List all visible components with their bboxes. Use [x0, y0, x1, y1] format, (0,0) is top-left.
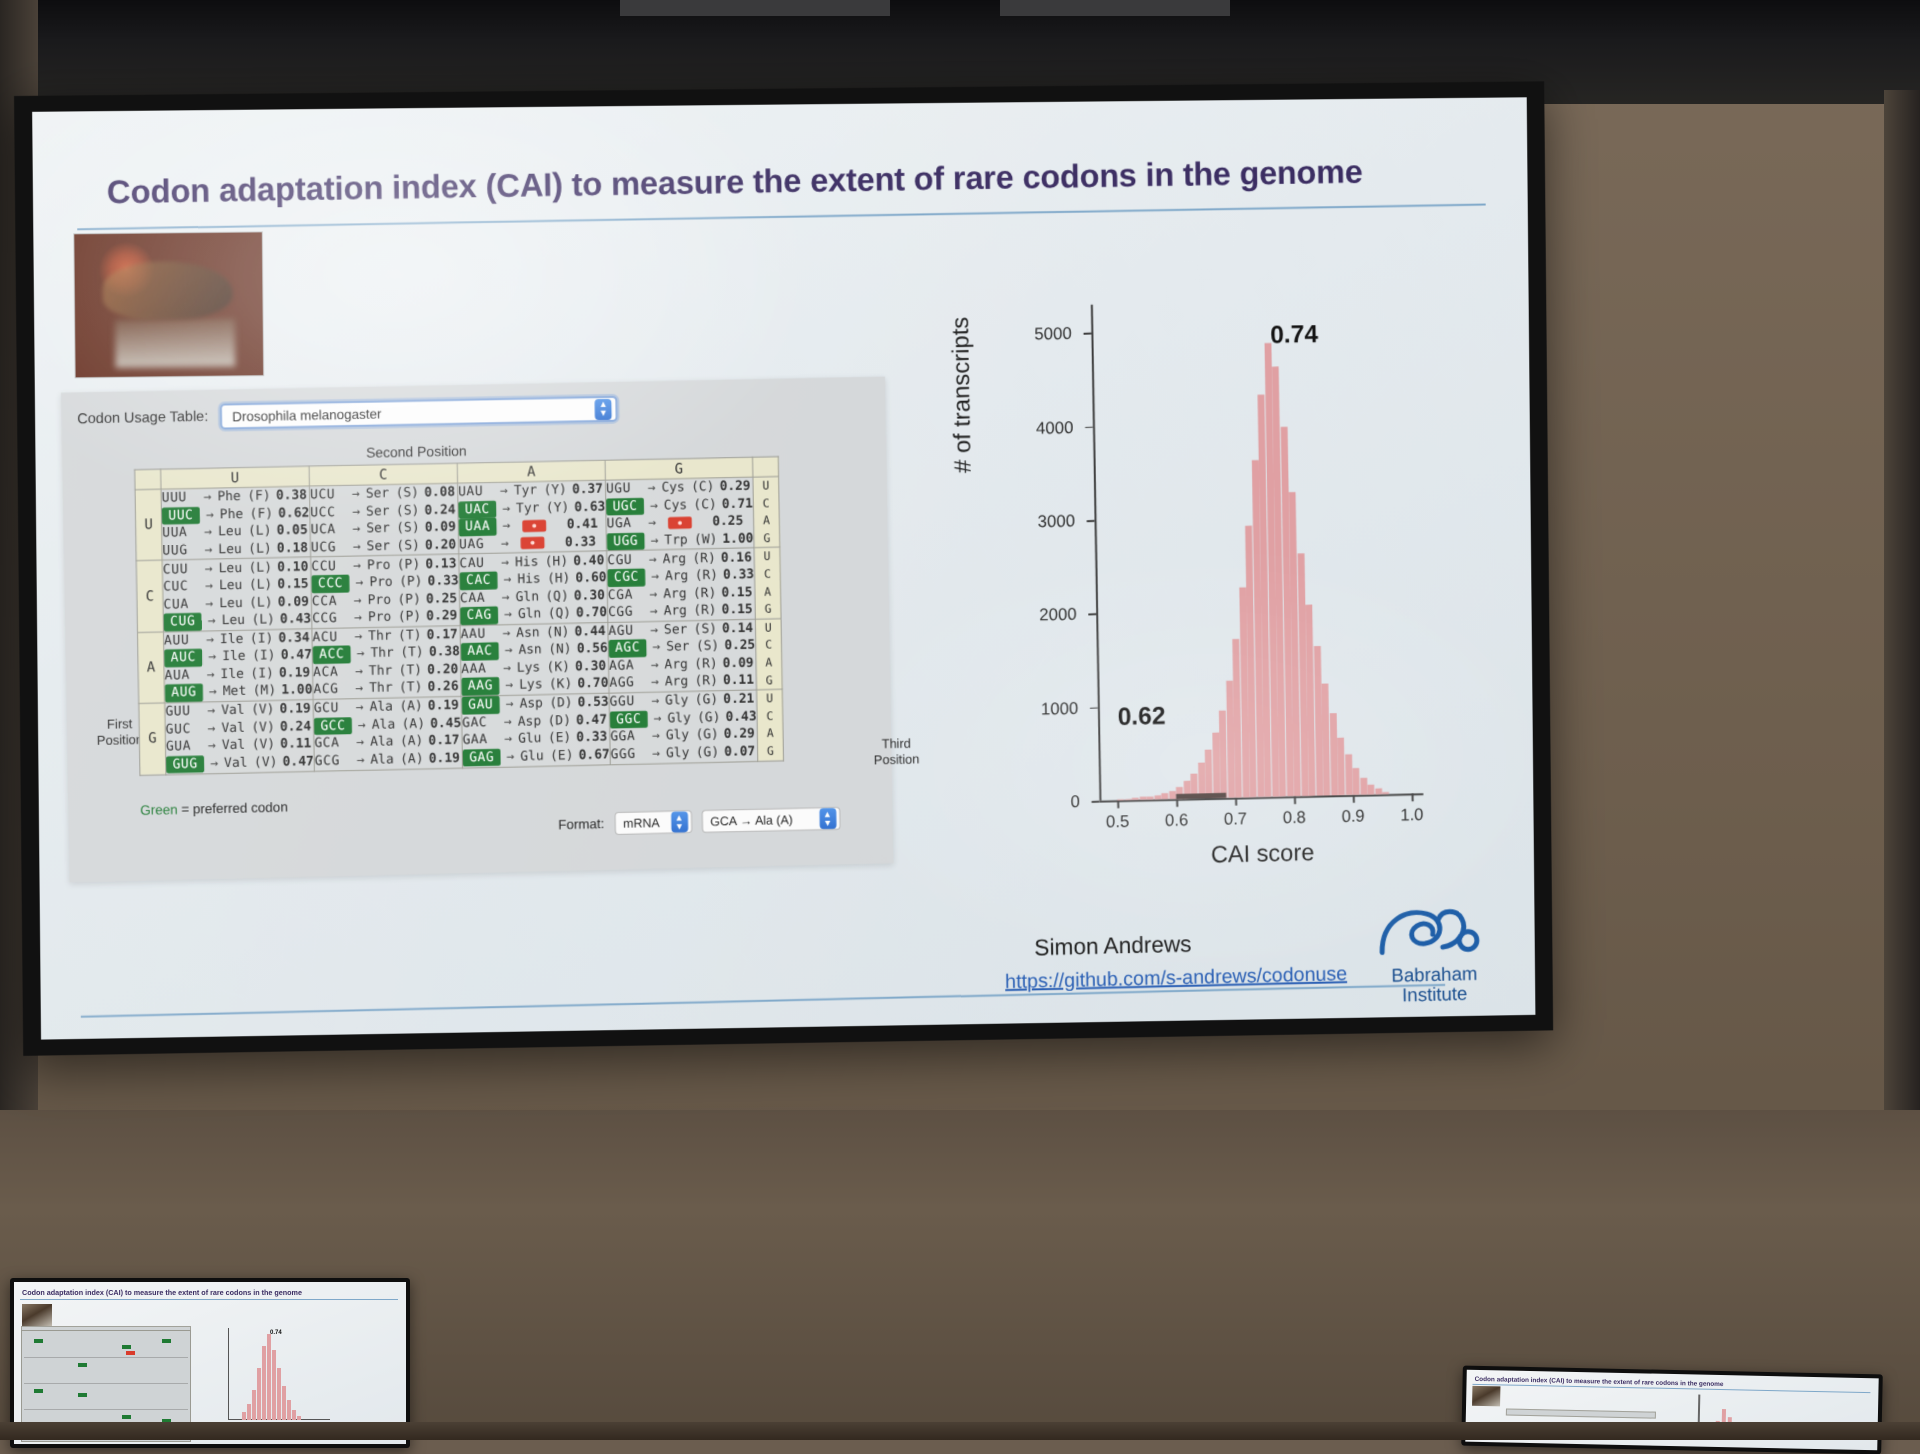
arrow-icon: → [204, 755, 224, 773]
codon-entry[interactable]: UAG→0.33 [459, 533, 606, 553]
stop-codon-icon [522, 520, 546, 532]
amino-acid-name: Ser [366, 503, 396, 521]
codon-triplet: UCG [311, 538, 347, 556]
amino-acid-name: Pro [367, 556, 397, 574]
codon-entry[interactable]: GCG→Ala(A)0.19 [315, 750, 462, 771]
codon-triplet: GCG [315, 752, 351, 770]
author-name: Simon Andrews [1034, 931, 1192, 962]
codon-entry[interactable]: CCG→Pro(P)0.29 [312, 607, 459, 628]
codon-frequency: 0.70 [573, 604, 607, 622]
y-tick-label: 5000 [1034, 324, 1072, 345]
amino-acid-letter: (L) [249, 594, 275, 612]
amino-acid-name: Leu [219, 559, 249, 577]
codon-frequency: 0.10 [274, 558, 308, 576]
codon-triplet: GGU [610, 693, 646, 711]
codon-cell-C-C: CCU→Pro(P)0.13CCC→Pro(P)0.33CCA→Pro(P)0.… [311, 554, 460, 628]
x-tick [1176, 799, 1178, 807]
codon-entry[interactable]: AGG→Arg(R)0.11 [609, 672, 756, 693]
amino-acid-letter: (L) [251, 611, 277, 629]
codon-cell-A-U: AUU→Ile(I)0.34AUC→Ile(I)0.47AUA→Ile(I)0.… [163, 629, 313, 703]
codon-triplet: UUC [162, 507, 200, 525]
codon-triplet: GUA [166, 738, 202, 756]
format-label: Format: [558, 816, 604, 832]
arrow-icon: → [644, 622, 664, 640]
logo-line-2: Institute [1402, 984, 1467, 1006]
histogram-bar [1382, 792, 1389, 794]
codon-entry[interactable]: CGG→Arg(R)0.15 [608, 601, 755, 622]
codon-frequency: 0.19 [426, 750, 460, 768]
amino-acid-letter: (G) [695, 726, 721, 744]
x-tick [1412, 794, 1414, 802]
arrow-icon: → [200, 506, 220, 524]
arrow-icon: → [496, 625, 516, 643]
amino-acid-name: Glu [518, 730, 548, 748]
amino-acid-letter: (M) [253, 682, 279, 700]
codon-frequency: 0.25 [423, 590, 457, 608]
amino-acid-letter: (K) [546, 659, 572, 677]
amino-acid-letter: (H) [547, 570, 573, 588]
amino-acid-name: Glu [520, 748, 550, 766]
codon-triplet: CCG [312, 610, 348, 628]
histogram-bar [1375, 789, 1382, 795]
amino-acid-name: Val [222, 737, 252, 755]
codon-frequency: 0.29 [423, 607, 457, 625]
codon-frequency: 0.41 [564, 516, 598, 534]
x-tick-label: 1.0 [1400, 805, 1423, 825]
amino-acid-letter: (S) [396, 537, 422, 555]
codon-frequency: 0.21 [720, 691, 754, 709]
codon-frequency: 0.29 [721, 726, 755, 744]
codon-entry[interactable]: AAG→Lys(K)0.70 [461, 675, 608, 696]
histogram-bar [1169, 791, 1176, 800]
amino-acid-name: Lys [519, 676, 549, 694]
amino-acid-letter: (N) [548, 641, 574, 659]
codon-triplet: AGG [609, 674, 645, 692]
codon-cell-G-G: GGU→Gly(G)0.21GGC→Gly(G)0.43GGA→Gly(G)0.… [609, 690, 758, 764]
codon-triplet: UAG [459, 535, 495, 553]
codon-triplet: AAU [461, 625, 497, 643]
codon-entry[interactable]: CUG→Leu(L)0.43 [164, 610, 312, 631]
peak-annotation: 0.74 [1270, 320, 1318, 350]
codon-frequency: 0.15 [719, 584, 753, 602]
amino-acid-name: Leu [221, 612, 251, 630]
projection-screen: Codon adaptation index (CAI) to measure … [14, 81, 1553, 1056]
ceiling-panel [1000, 0, 1230, 16]
arrow-icon: → [495, 554, 515, 572]
arrow-icon: → [348, 592, 368, 610]
arrow-icon: → [497, 660, 517, 678]
example-codon-select[interactable]: GCA → Ala (A) ▲▼ [701, 807, 840, 833]
codon-cell-G-A: GAU→Asp(D)0.53GAC→Asp(D)0.47GAA→Glu(E)0.… [461, 693, 610, 767]
codon-entry[interactable]: GUG→Val(V)0.47 [166, 753, 314, 774]
chevron-updown-icon-example[interactable]: ▲▼ [819, 808, 836, 829]
codon-triplet: CCC [311, 575, 349, 593]
codon-usage-table-select[interactable]: Drosophila melanogaster ▲▼ [220, 396, 618, 430]
amino-acid-name: His [515, 553, 545, 571]
amino-acid-letter: (I) [250, 665, 276, 683]
amino-acid-letter: (E) [548, 730, 574, 748]
codon-frequency: 0.62 [275, 504, 309, 522]
x-tick [1117, 800, 1119, 808]
codon-frequency: 0.47 [573, 711, 607, 729]
arrow-icon: → [346, 521, 366, 539]
codon-triplet: GGG [610, 745, 646, 763]
arrow-icon: → [349, 699, 369, 717]
format-select[interactable]: mRNA ▲▼ [614, 810, 692, 835]
arrow-icon: → [198, 524, 218, 542]
codon-frequency: 0.14 [719, 620, 753, 638]
x-axis-title: CAI score [1100, 837, 1424, 872]
amino-acid-letter: (L) [249, 576, 275, 594]
amino-acid-name: His [517, 571, 547, 589]
codon-frequency: 0.43 [723, 708, 757, 726]
codon-triplet: UGU [606, 480, 642, 498]
babraham-logo-icon [1373, 900, 1493, 960]
drosophila-photo [73, 231, 264, 378]
y-tick: 2000 [1088, 614, 1096, 616]
arrow-icon: → [199, 595, 219, 613]
codon-frequency: 0.33 [425, 572, 459, 590]
codon-frequency: 0.09 [275, 593, 309, 611]
y-tick: 4000 [1085, 426, 1093, 428]
codon-frequency: 0.08 [421, 484, 455, 502]
codon-frequency: 0.25 [722, 637, 756, 655]
histogram-bar [1345, 755, 1353, 795]
amino-acid-letter: (V) [251, 701, 277, 719]
arrow-icon: → [350, 752, 370, 770]
codon-entry[interactable]: AUG→Met(M)1.00 [165, 682, 313, 703]
amino-acid-letter: (R) [693, 602, 719, 620]
arrow-icon: → [643, 585, 663, 603]
y-tick: 3000 [1087, 520, 1095, 522]
amino-acid-name: Ser [666, 638, 696, 656]
codon-cell-U-U: UUU→Phe(F)0.38UUC→Phe(F)0.62UUA→Leu(L)0.… [161, 486, 311, 560]
codon-frequency: 0.33 [562, 533, 596, 551]
arrow-icon: → [642, 480, 662, 498]
arrow-icon: → [645, 568, 665, 586]
arrow-icon: → [643, 551, 663, 569]
amino-acid-name: Ser [367, 537, 397, 555]
codon-triplet: AAA [461, 660, 497, 678]
amino-acid-letter: (A) [400, 750, 426, 768]
codon-triplet: UAA [459, 518, 497, 536]
amino-acid-name: Gly [666, 727, 696, 745]
arrow-icon: → [646, 745, 666, 763]
arrow-icon: → [346, 486, 366, 504]
arrow-icon: → [498, 731, 518, 749]
x-tick [1353, 795, 1355, 803]
amino-acid-name: Asn [516, 624, 546, 642]
codon-entry[interactable]: ACG→Thr(T)0.26 [313, 678, 460, 699]
codon-entry[interactable]: UGG→Trp(W)1.00 [607, 530, 754, 550]
codon-triplet: AAG [461, 678, 499, 696]
amino-acid-name: Ile [222, 648, 252, 666]
codon-triplet: UCA [311, 521, 347, 539]
arrow-icon: → [646, 639, 666, 657]
codon-usage-table-row: Codon Usage Table: Drosophila melanogast… [77, 396, 618, 433]
amino-acid-letter: (T) [399, 662, 425, 680]
arrow-icon: → [497, 571, 517, 589]
codon-entry[interactable]: CAG→Gln(Q)0.70 [460, 604, 607, 625]
codon-cell-U-G: UGU→Cys(C)0.29UGC→Cys(C)0.71UGA→0.25UGG→… [605, 477, 754, 551]
amino-acid-letter: (T) [399, 679, 425, 697]
codon-table-row-U: UUUU→Phe(F)0.38UUC→Phe(F)0.62UUA→Leu(L)0… [135, 477, 780, 561]
amino-acid-letter: (S) [396, 502, 422, 520]
amino-acid-name: Thr [368, 627, 398, 645]
codon-triplet: GCU [314, 700, 350, 718]
arrow-icon: → [199, 560, 219, 578]
amino-acid-name: Leu [218, 523, 248, 541]
amino-acid-letter: (P) [397, 591, 423, 609]
codon-frequency: 0.37 [569, 481, 603, 499]
codon-triplet: AGU [608, 622, 644, 640]
arrow-icon: → [346, 503, 366, 521]
second-position-label: Second Position [366, 443, 467, 461]
codon-triplet: GAA [462, 731, 498, 749]
codon-entry[interactable]: UCG→Ser(S)0.20 [311, 536, 458, 557]
codon-frequency: 0.05 [274, 522, 308, 540]
histogram-bar [1352, 768, 1359, 795]
y-axis-title: # of transcripts [947, 317, 977, 474]
x-tick [1294, 796, 1296, 804]
amino-acid-letter: (F) [247, 488, 273, 506]
amino-acid-name: Asp [518, 713, 548, 731]
low-annotation: 0.62 [1117, 702, 1165, 732]
histogram-bar [1367, 784, 1374, 794]
amino-acid-letter: (V) [251, 719, 277, 737]
amino-acid-name: Arg [663, 585, 693, 603]
amino-acid-letter: (V) [254, 754, 280, 772]
amino-acid-letter: (L) [248, 540, 274, 558]
arrow-icon: → [495, 535, 515, 553]
amino-acid-letter: (W) [694, 531, 720, 549]
amino-acid-letter: (P) [398, 608, 424, 626]
arrow-icon: → [348, 609, 368, 627]
codon-triplet: CGU [607, 551, 643, 569]
codon-triplet: AAC [461, 643, 499, 661]
y-tick-label: 3000 [1038, 511, 1076, 532]
codon-triplet: AUC [164, 649, 202, 667]
amino-acid-name: Met [223, 683, 253, 701]
codon-frequency: 0.13 [423, 555, 457, 573]
amino-acid-letter: (L) [248, 522, 274, 540]
histogram-bar [1360, 778, 1367, 795]
codon-triplet: AGA [609, 657, 645, 675]
y-tick-label: 1000 [1041, 699, 1079, 720]
chevron-updown-icon[interactable]: ▲▼ [595, 398, 612, 419]
logo-text: Babraham Institute [1361, 964, 1509, 1007]
stop-codon-icon [521, 537, 545, 549]
codon-frequency: 0.15 [719, 601, 753, 619]
codon-frequency: 0.25 [709, 513, 743, 531]
codon-cell-A-G: AGU→Ser(S)0.14AGC→Ser(S)0.25AGA→Arg(R)0.… [608, 619, 757, 693]
codon-cell-G-U: GUU→Val(V)0.19GUC→Val(V)0.24GUA→Val(V)0.… [165, 700, 315, 775]
amino-acid-letter: (P) [399, 573, 425, 591]
y-tick-label: 0 [1070, 792, 1080, 812]
amino-acid-name: Thr [369, 662, 399, 680]
codon-entry[interactable]: GGG→Gly(G)0.07 [610, 743, 757, 764]
arrow-icon: → [200, 631, 220, 649]
arrow-icon: → [203, 684, 223, 702]
confidence-monitor-right: Codon adaptation index (CAI) to measure … [1461, 1366, 1883, 1454]
amino-acid-letter: (R) [694, 655, 720, 673]
x-tick-label: 0.8 [1283, 808, 1307, 828]
codon-frequency: 0.71 [719, 495, 753, 513]
amino-acid-name: Arg [665, 673, 695, 691]
amino-acid-name: Arg [663, 602, 693, 620]
arrow-icon: → [349, 680, 369, 698]
amino-acid-letter: (G) [695, 691, 721, 709]
arrow-icon: → [645, 674, 665, 692]
y-tick: 5000 [1083, 333, 1091, 335]
codon-usage-table: U C A G UUUU→Phe(F)0.38UUC→Phe(F)0.62UUA… [134, 456, 784, 775]
amino-acid-letter: (F) [249, 505, 275, 523]
arrow-icon: → [648, 710, 668, 728]
codon-triplet: CAU [459, 554, 495, 572]
codon-triplet: UGC [606, 497, 644, 515]
amino-acid-letter: (P) [397, 556, 423, 574]
codon-frequency: 0.43 [277, 610, 311, 628]
format-row: Format: mRNA ▲▼ GCA → Ala (A) ▲▼ [558, 807, 840, 836]
mini-drosophila-photo-right [1472, 1386, 1500, 1407]
arrow-icon: → [351, 645, 371, 663]
amino-acid-name: Arg [663, 550, 693, 568]
codon-frequency: 0.07 [721, 743, 755, 761]
arrow-icon: → [347, 538, 367, 556]
x-tick-label: 0.6 [1165, 811, 1189, 831]
arrow-icon: → [500, 748, 520, 766]
mini-select-right [1506, 1409, 1656, 1419]
amino-acid-letter: (T) [398, 627, 424, 645]
arrow-icon: → [644, 497, 664, 515]
amino-acid-name: Thr [370, 645, 400, 663]
codon-frequency: 0.34 [276, 629, 310, 647]
codon-frequency: 1.00 [278, 682, 312, 700]
amino-acid-letter: (I) [252, 647, 278, 665]
codon-triplet: CUC [163, 578, 199, 596]
arrow-icon: → [352, 717, 372, 735]
amino-acid-name: Gly [665, 692, 695, 710]
corner-cell [135, 469, 161, 490]
codon-frequency: 0.17 [424, 626, 458, 644]
codon-frequency: 0.29 [717, 478, 751, 496]
arrow-icon: → [202, 612, 222, 630]
codon-triplet: GUU [165, 703, 201, 721]
arrow-icon: → [499, 677, 519, 695]
mini-slide-left: Codon adaptation index (CAI) to measure … [14, 1282, 406, 1444]
codon-frequency: 0.09 [720, 655, 754, 673]
corner-cell-right [753, 457, 779, 477]
chevron-updown-icon-format[interactable]: ▲▼ [671, 811, 688, 832]
amino-acid-letter: (S) [395, 485, 421, 503]
codon-frequency: 0.19 [276, 664, 310, 682]
codon-cell-C-U: CUU→Leu(L)0.10CUC→Leu(L)0.15CUA→Leu(L)0.… [162, 557, 312, 631]
legend-green-word: Green [140, 802, 178, 818]
codon-frequency: 0.19 [277, 700, 311, 718]
amino-acid-letter: (A) [400, 733, 426, 751]
codon-cell-G-C: GCU→Ala(A)0.19GCC→Ala(A)0.45GCA→Ala(A)0.… [313, 696, 462, 770]
codon-triplet: UGG [607, 532, 645, 550]
amino-acid-letter: (T) [400, 644, 426, 662]
amino-acid-letter: (V) [252, 736, 278, 754]
histogram-bar [1139, 797, 1146, 800]
codon-frequency: 0.70 [575, 675, 609, 693]
babraham-institute-logo: Babraham Institute [1360, 900, 1509, 1008]
codon-frequency: 0.24 [422, 501, 456, 519]
amino-acid-letter: (C) [693, 496, 719, 514]
amino-acid-name: Gly [667, 709, 697, 727]
arrow-icon: → [349, 574, 369, 592]
third-position-header-C: UCAG [754, 548, 781, 620]
footer-divider [81, 984, 1445, 1018]
codon-entry[interactable]: UUG→Leu(L)0.18 [162, 539, 310, 560]
codon-triplet: UUU [161, 489, 197, 507]
amino-acid-letter: (E) [550, 747, 576, 765]
amino-acid-name: Gln [516, 588, 546, 606]
amino-acid-name: Leu [219, 577, 249, 595]
arrow-icon: → [198, 541, 218, 559]
codon-triplet: GUG [166, 755, 204, 773]
codon-cell-U-A: UAU→Tyr(Y)0.37UAC→Tyr(Y)0.63UAA→0.41UAG→… [458, 480, 607, 554]
codon-triplet: CGC [607, 568, 645, 586]
first-position-header-U: U [135, 489, 162, 561]
arrow-icon: → [500, 696, 520, 714]
arrow-icon: → [349, 663, 369, 681]
amino-acid-name: Phe [220, 506, 250, 524]
arrow-icon: → [347, 557, 367, 575]
codon-triplet: ACA [313, 663, 349, 681]
mini-divider [20, 1299, 398, 1300]
arrow-icon: → [496, 500, 516, 518]
amino-acid-name: Ala [370, 733, 400, 751]
presentation-slide: Codon adaptation index (CAI) to measure … [32, 97, 1535, 1039]
arrow-icon: → [496, 517, 516, 535]
stop-codon-icon [668, 517, 692, 529]
codon-frequency: 0.30 [571, 587, 605, 605]
codon-triplet: GAC [462, 714, 498, 732]
codon-frequency: 0.09 [422, 519, 456, 537]
amino-acid-name: Pro [367, 591, 397, 609]
amino-acid-letter: (D) [549, 695, 575, 713]
page-title: Codon adaptation index (CAI) to measure … [107, 151, 1491, 212]
codon-entry[interactable]: GAG→Glu(E)0.67 [463, 746, 610, 767]
cai-histogram: # of transcripts 010002000300040005000 0… [965, 290, 1437, 914]
amino-acid-letter: (L) [248, 559, 274, 577]
codon-frequency: 0.19 [425, 697, 459, 715]
codon-triplet: UCC [310, 504, 346, 522]
amino-acid-letter: (G) [697, 709, 723, 727]
arrow-icon: → [202, 649, 222, 667]
amino-acid-letter: (H) [545, 553, 571, 571]
codon-frequency: 0.15 [275, 576, 309, 594]
arrow-icon: → [197, 489, 217, 507]
amino-acid-name: Ile [220, 631, 250, 649]
codon-cell-C-G: CGU→Arg(R)0.16CGC→Arg(R)0.33CGA→Arg(R)0.… [607, 548, 756, 622]
codon-triplet: CAG [460, 606, 498, 624]
legend-note-rest: = preferred codon [177, 799, 288, 816]
amino-acid-letter: (Y) [546, 499, 572, 517]
codon-frequency: 0.20 [422, 536, 456, 554]
codon-triplet: UUA [162, 524, 198, 542]
codon-triplet: CAA [460, 589, 496, 607]
codon-triplet: CCA [312, 592, 348, 610]
codon-table-row-A: AAUU→Ile(I)0.34AUC→Ile(I)0.47AUA→Ile(I)0… [138, 618, 783, 703]
arrow-icon: → [202, 737, 222, 755]
codon-table-row-C: CCUU→Leu(L)0.10CUC→Leu(L)0.15CUA→Leu(L)0… [136, 548, 781, 633]
amino-acid-letter: (D) [547, 712, 573, 730]
amino-acid-letter: (A) [401, 715, 427, 733]
codon-triplet: GGA [610, 728, 646, 746]
